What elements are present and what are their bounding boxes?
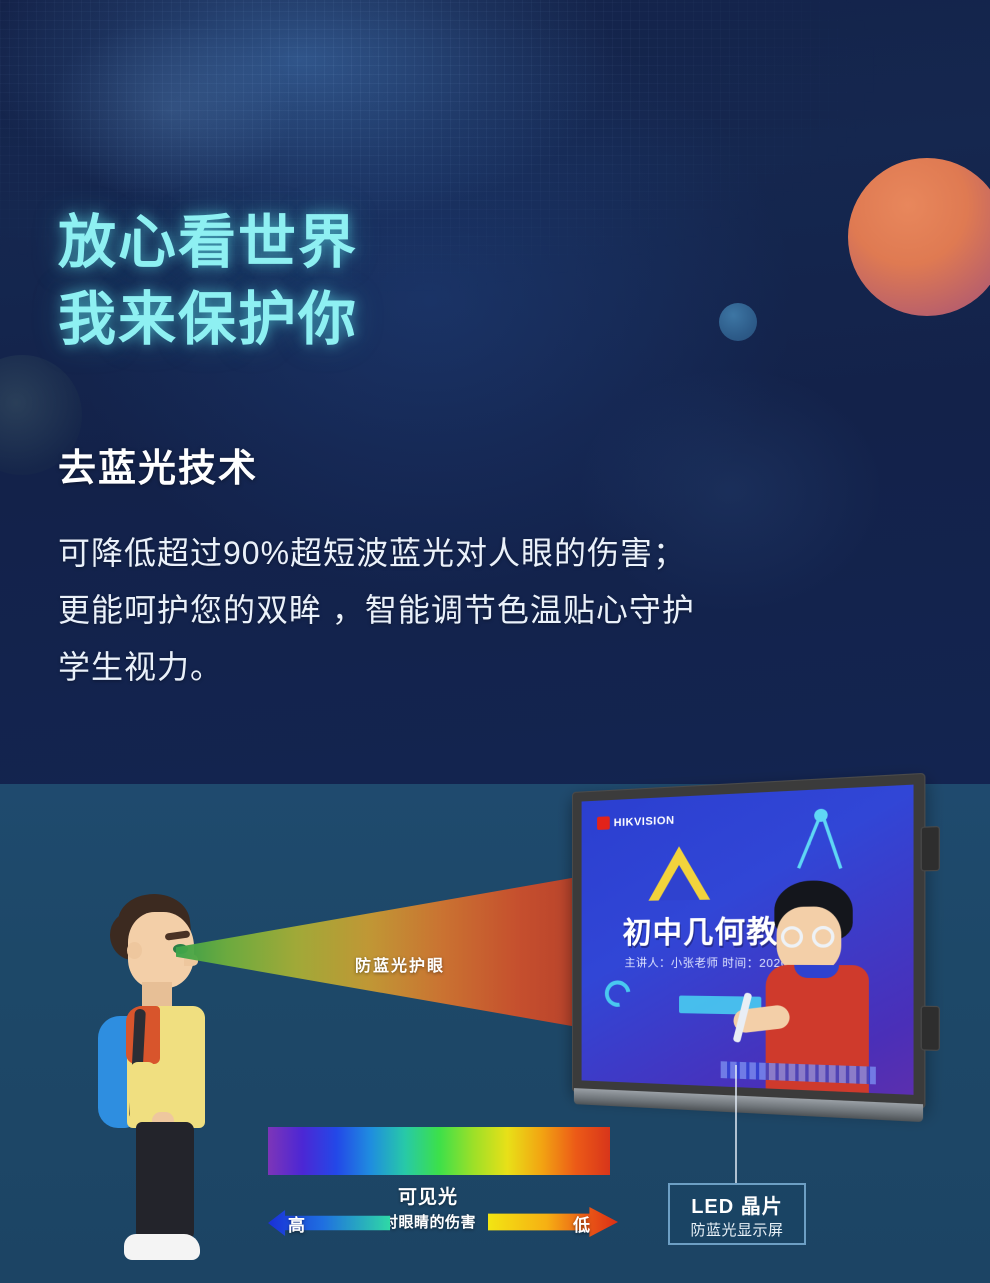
spectrum-caption-main: 可见光 — [398, 1182, 458, 1209]
brand-logo-text: HIKVISION — [614, 814, 675, 829]
promo-page: 放心看世界 我来保护你 去蓝光技术 可降低超过90%超短波蓝光对人眼的伤害； 更… — [0, 0, 990, 1283]
screen-boy-collar — [794, 965, 839, 978]
wall-bracket-bottom — [921, 1006, 940, 1051]
harm-low-label: 低 — [573, 1211, 590, 1236]
legs-shape — [136, 1122, 194, 1242]
interactive-display: HIKVISION 初中几何教学 主讲人：小张老师 时间：2020.4.25 — [572, 773, 925, 1131]
compass-icon — [796, 808, 848, 877]
callout-subtitle: 防蓝光显示屏 — [670, 1219, 804, 1240]
hero-section: 放心看世界 我来保护你 去蓝光技术 可降低超过90%超短波蓝光对人眼的伤害； 更… — [0, 0, 990, 784]
visible-light-spectrum-bar — [268, 1127, 610, 1175]
glow-blob-icon — [45, 20, 295, 200]
wall-bracket-top — [921, 826, 940, 871]
feature-subheading: 去蓝光技术 — [58, 437, 258, 492]
screen-boy-glasses-right — [812, 926, 835, 948]
blue-dot-icon — [719, 303, 757, 341]
callout-leader-line — [735, 1065, 737, 1183]
led-callout-box: LED 晶片 防蓝光显示屏 — [668, 1183, 806, 1245]
spectrum-caption-sub: 对眼睛的伤害 — [383, 1211, 476, 1232]
refresh-icon — [600, 975, 636, 1012]
harm-high-label: 高 — [288, 1211, 305, 1236]
display-screen: HIKVISION 初中几何教学 主讲人：小张老师 时间：2020.4.25 — [582, 785, 914, 1095]
ear-shape — [127, 942, 142, 959]
beam-label: 防蓝光护眼 — [355, 952, 445, 976]
feature-description: 可降低超过90%超短波蓝光对人眼的伤害； 更能呵护您的双眸 ，智能调节色温贴心守… — [58, 525, 948, 696]
page-headline: 放心看世界 我来保护你 — [58, 205, 358, 358]
orange-circle-icon — [848, 158, 990, 316]
shoe-shape — [124, 1234, 200, 1260]
callout-title: LED 晶片 — [670, 1190, 804, 1219]
screen-boy-glasses-left — [781, 926, 803, 948]
triangle-inner-icon — [659, 864, 700, 900]
brand-logo: HIKVISION — [597, 813, 675, 830]
arm-shape — [130, 1062, 156, 1124]
hikvision-mark-icon — [597, 816, 610, 830]
